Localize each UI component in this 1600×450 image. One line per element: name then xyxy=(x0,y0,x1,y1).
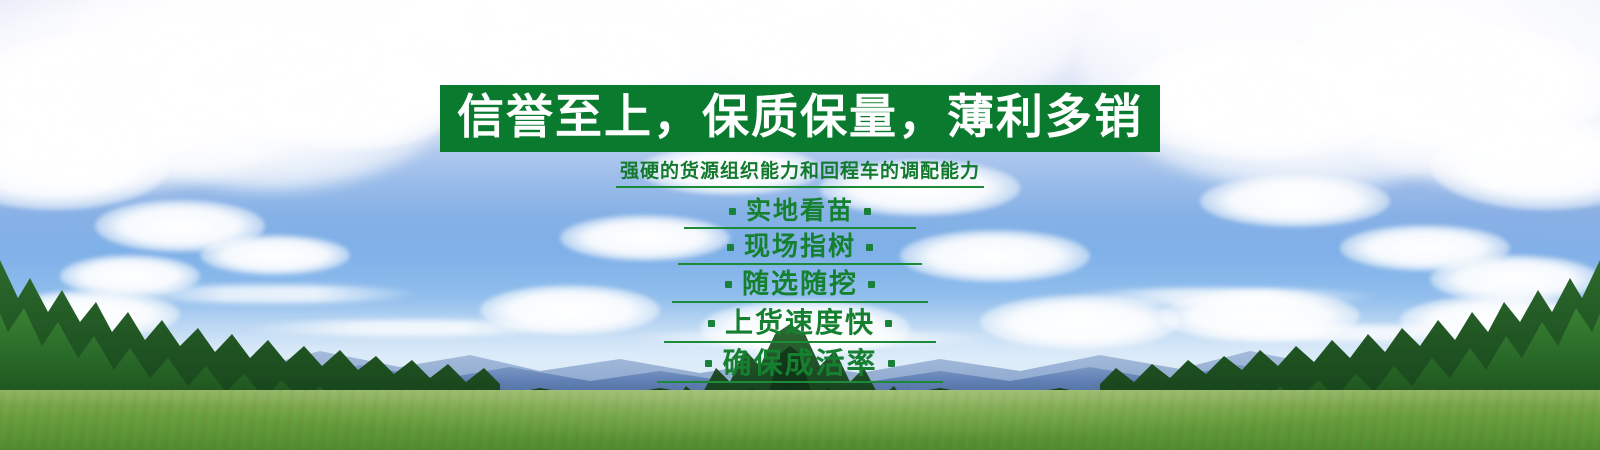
banner-content: 信誉至上，保质保量，薄利多销 强硬的货源组织能力和回程车的调配能力 实地看苗 现… xyxy=(0,0,1600,383)
feature-divider xyxy=(657,381,943,383)
bullet-dot-icon xyxy=(885,320,892,327)
feature-item: 现场指树 xyxy=(678,233,922,266)
feature-divider xyxy=(672,301,928,303)
feature-item: 随选随挖 xyxy=(672,269,928,303)
bullet-dot-icon xyxy=(866,244,873,251)
feature-item: 上货速度快 xyxy=(664,307,936,342)
feature-item: 确保成活率 xyxy=(657,347,943,383)
feature-divider xyxy=(678,263,922,265)
field-light-glow xyxy=(0,390,1600,450)
bullet-dot-icon xyxy=(868,281,875,288)
feature-label: 实地看苗 xyxy=(746,197,854,226)
headline-container: 信誉至上，保质保量，薄利多销 xyxy=(0,85,1600,152)
bullet-dot-icon xyxy=(727,244,734,251)
bullet-dot-icon xyxy=(708,320,715,327)
bullet-dot-icon xyxy=(705,360,712,367)
feature-label: 随选随挖 xyxy=(742,269,858,300)
bullet-dot-icon xyxy=(888,360,895,367)
bullet-dot-icon xyxy=(864,208,871,215)
feature-label: 确保成活率 xyxy=(722,347,877,380)
bullet-dot-icon xyxy=(725,281,732,288)
subtitle-container: 强硬的货源组织能力和回程车的调配能力 xyxy=(0,152,1600,188)
feature-divider xyxy=(684,227,916,229)
promo-banner: 信誉至上，保质保量，薄利多销 强硬的货源组织能力和回程车的调配能力 实地看苗 现… xyxy=(0,0,1600,450)
bullet-dot-icon xyxy=(729,208,736,215)
feature-label: 现场指树 xyxy=(744,233,856,263)
feature-label: 上货速度快 xyxy=(725,307,875,339)
feature-list: 实地看苗 现场指树 随选随挖 上货速度快 xyxy=(0,197,1600,383)
feature-divider xyxy=(664,341,936,343)
farm-field xyxy=(0,390,1600,450)
subtitle-text: 强硬的货源组织能力和回程车的调配能力 xyxy=(616,160,984,188)
headline-text: 信誉至上，保质保量，薄利多销 xyxy=(440,85,1160,152)
feature-item: 实地看苗 xyxy=(684,197,916,229)
